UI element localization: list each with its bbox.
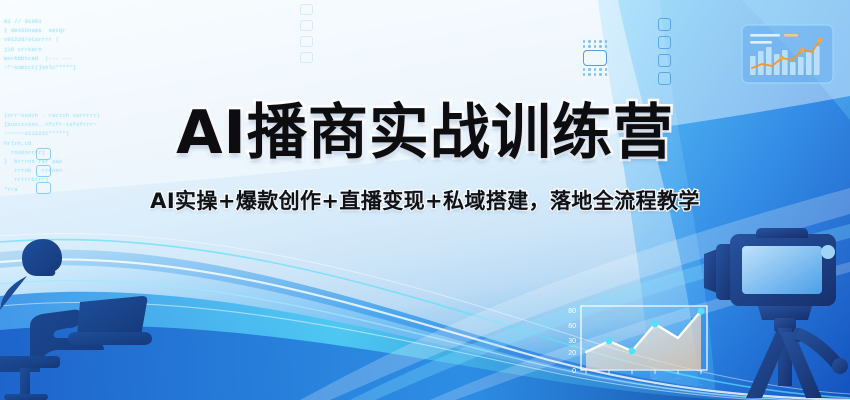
dot-grid-panel <box>578 38 612 84</box>
svg-text:··: ·· <box>700 382 703 387</box>
page-subtitle: AI实操+爆款创作+直播变现+私域搭建，落地全流程教学 <box>0 186 850 216</box>
chart-svg: 80 60 30 20 0 <box>552 300 712 392</box>
dot-grid-core <box>583 50 607 66</box>
svg-text:···: ··· <box>699 376 703 381</box>
svg-text:80: 80 <box>568 308 576 315</box>
svg-text:60: 60 <box>568 323 576 330</box>
svg-text:···: ··· <box>584 376 588 381</box>
svg-text:··: ·· <box>677 382 680 387</box>
poster-canvas: 01 // 01001 { devSSname setQr v0122d/sCa… <box>0 0 850 400</box>
growth-line-chart: 80 60 30 20 0 <box>552 300 712 392</box>
svg-text:··: ·· <box>654 382 657 387</box>
page-title: AI播商实战训练营 <box>0 96 850 170</box>
svg-text:0: 0 <box>572 368 576 375</box>
svg-text:20: 20 <box>568 350 576 357</box>
svg-text:···: ··· <box>630 376 634 381</box>
svg-text:30: 30 <box>568 338 576 345</box>
chart-x-tick-labels: ··· ··· ··· ··· ·· ···· ·· ··· ·· <box>584 376 703 387</box>
camera-tripod-silhouette <box>690 228 850 400</box>
square-stack-center <box>300 4 313 63</box>
analytics-dashboard-icon <box>741 24 834 84</box>
svg-text:···: ··· <box>607 376 611 381</box>
square-stack-right <box>658 18 671 85</box>
svg-text:···: ··· <box>653 376 657 381</box>
svg-text:····: ···· <box>675 376 680 381</box>
chart-y-tick-labels: 80 60 30 20 0 <box>568 308 576 375</box>
person-at-laptop-silhouette <box>0 238 174 400</box>
chart-area-fill <box>586 311 701 370</box>
